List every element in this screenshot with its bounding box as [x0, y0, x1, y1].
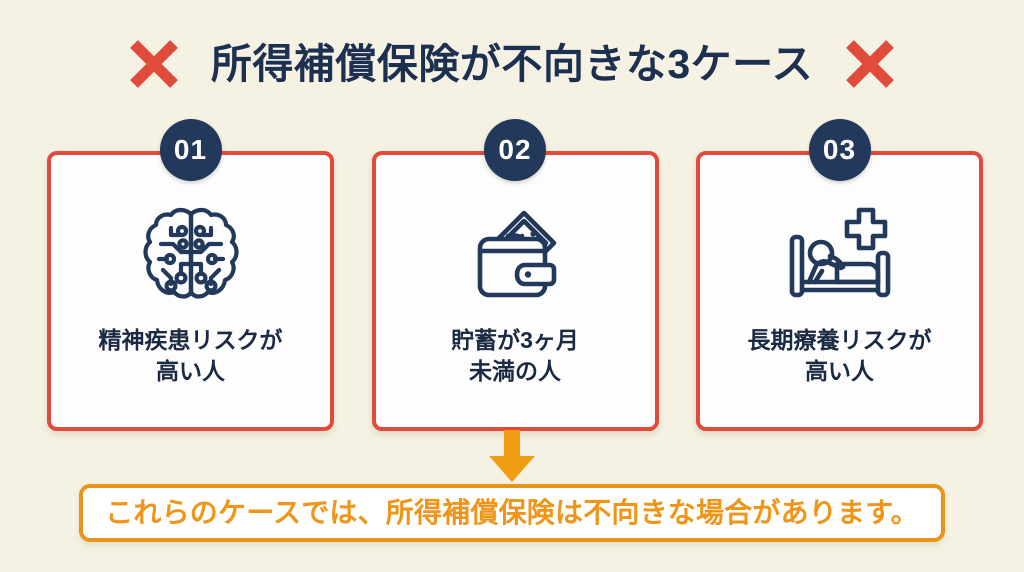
conclusion-banner: これらのケースでは、所得補償保険は不向きな場合があります。 — [79, 484, 945, 542]
case-label-02: 貯蓄が3ヶ月 未満の人 — [443, 325, 587, 387]
x-mark-icon-right — [843, 37, 897, 91]
brain-circuit-icon — [136, 201, 246, 307]
case-card-01[interactable]: 01 — [47, 151, 334, 431]
case-label-01: 精神疾患リスクが 高い人 — [91, 325, 291, 387]
hospital-bed-icon — [785, 201, 895, 307]
case-card-03[interactable]: 03 — [696, 151, 983, 431]
case-number-badge-03: 03 — [809, 119, 871, 181]
case-cards: 01 — [47, 151, 983, 431]
conclusion-banner-text: これらのケースでは、所得補償保険は不向きな場合があります。 — [105, 499, 919, 527]
infographic-canvas: 所得補償保険が不向きな3ケース 01 — [0, 0, 1024, 572]
case-number-badge-02: 02 — [484, 119, 546, 181]
case-number-badge-01: 01 — [160, 119, 222, 181]
x-mark-icon-left — [127, 37, 181, 91]
page-title: 所得補償保険が不向きな3ケース — [211, 44, 813, 85]
title-row: 所得補償保険が不向きな3ケース — [0, 26, 1024, 102]
arrow-down-icon — [483, 430, 541, 484]
wallet-cash-icon — [460, 201, 570, 307]
case-card-02[interactable]: 02 — [372, 151, 659, 431]
case-label-03: 長期療養リスクが 高い人 — [740, 325, 940, 387]
